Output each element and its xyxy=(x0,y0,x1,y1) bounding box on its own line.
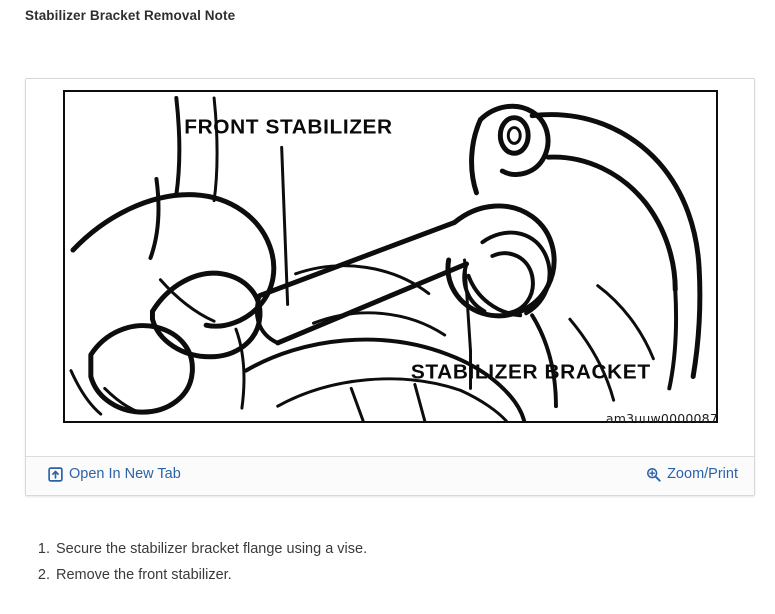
magnifier-plus-icon xyxy=(646,467,661,482)
figure-toolbar: Open In New Tab Zoom/Print xyxy=(26,456,754,495)
zoom-print-label: Zoom/Print xyxy=(667,466,738,482)
figure-card: FRONT STABILIZER STABILIZER BRACKET am3u… xyxy=(25,78,755,496)
procedure-steps-list: Secure the stabilizer bracket flange usi… xyxy=(30,536,367,588)
open-in-new-tab-icon xyxy=(48,467,63,482)
open-in-new-tab-link[interactable]: Open In New Tab xyxy=(48,466,181,482)
list-item: Secure the stabilizer bracket flange usi… xyxy=(54,536,367,562)
open-in-new-tab-label: Open In New Tab xyxy=(69,466,181,482)
label-stabilizer-bracket: STABILIZER BRACKET xyxy=(411,361,651,384)
list-item: Remove the front stabilizer. xyxy=(54,562,367,588)
stabilizer-bracket-illustration: FRONT STABILIZER STABILIZER BRACKET xyxy=(65,92,716,421)
illustration-frame: FRONT STABILIZER STABILIZER BRACKET xyxy=(63,90,718,423)
figure-image-area: FRONT STABILIZER STABILIZER BRACKET am3u… xyxy=(26,79,754,456)
figure-image-code: am3uuw0000087 xyxy=(606,411,718,426)
page-title: Stabilizer Bracket Removal Note xyxy=(25,8,235,23)
zoom-print-link[interactable]: Zoom/Print xyxy=(646,466,738,482)
label-front-stabilizer: FRONT STABILIZER xyxy=(184,116,392,139)
